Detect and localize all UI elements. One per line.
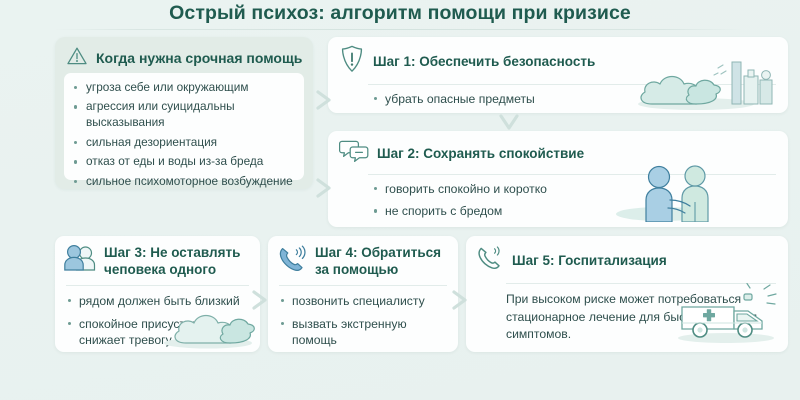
alert-panel: Когда нужна срочная помощь угроза себе и… (55, 37, 313, 189)
list-item: сильное психомоторное возбуждение (72, 174, 296, 189)
phone-ringing-icon (277, 245, 307, 278)
list-item: позвонить специалисту (279, 293, 449, 309)
two-persons-icon (64, 245, 96, 276)
step-5-panel: Шаг 5: Госпитализация При высоком риске … (466, 236, 788, 352)
step-1-panel: Шаг 1: Обеспечить безопасность убрать оп… (328, 37, 788, 113)
step-1-title: Шаг 1: Обеспечить безопасность (373, 53, 595, 70)
shield-exclamation-icon (339, 44, 365, 79)
alert-list-card: угроза себе или окружающим агрессия или … (64, 73, 304, 180)
step-2-title: Шаг 2: Сохранять спокойствие (377, 145, 584, 162)
list-item: агрессия или суицидальны высказывания (72, 99, 296, 131)
alert-panel-title: Когда нужна срочная помощь (96, 50, 302, 68)
speech-bubbles-icon (339, 138, 369, 169)
ambulance-illustration (672, 283, 784, 350)
step-5-header: Шаг 5: Госпитализация (466, 236, 788, 277)
step-3-panel: Шаг 3: Не оставлять чеповека одного рядо… (55, 236, 260, 352)
cloud-city-illustration (634, 54, 784, 113)
step-5-title: Шаг 5: Госпитализация (512, 252, 667, 269)
phone-ringing-teal-icon (476, 244, 504, 277)
alert-panel-header: Когда нужна срочная помощь (55, 37, 313, 71)
step-4-header: Шаг 4: Обратиться за помощью (268, 236, 458, 279)
cloud-illustration (162, 293, 260, 352)
page-title: Острый психоз: алгоритм помощи при кризи… (0, 2, 800, 25)
list-item: угроза себе или окружающим (72, 80, 296, 96)
list-item: сильная дезориентация (72, 135, 296, 151)
title-divider (55, 29, 745, 30)
step-2-panel: Шаг 2: Сохранять спокойствие говорить сп… (328, 131, 788, 227)
step-4-list: позвонить специалисту вызвать экстренную… (268, 286, 458, 349)
step-3-title: Шаг 3: Не оставлять чеповека одного (104, 244, 260, 279)
step-4-title: Шаг 4: Обратиться за помощью (315, 244, 458, 279)
step-3-header: Шаг 3: Не оставлять чеповека одного (55, 236, 260, 279)
two-people-illustration (612, 150, 732, 227)
step-4-panel: Шаг 4: Обратиться за помощью позвонить с… (268, 236, 458, 352)
alert-list: угроза себе или окружающим агрессия или … (72, 80, 296, 189)
list-item: вызвать экстренную помощь (279, 316, 449, 349)
warning-triangle-icon (66, 46, 88, 71)
list-item: отказ от еды и воды из-за бреда (72, 154, 296, 170)
